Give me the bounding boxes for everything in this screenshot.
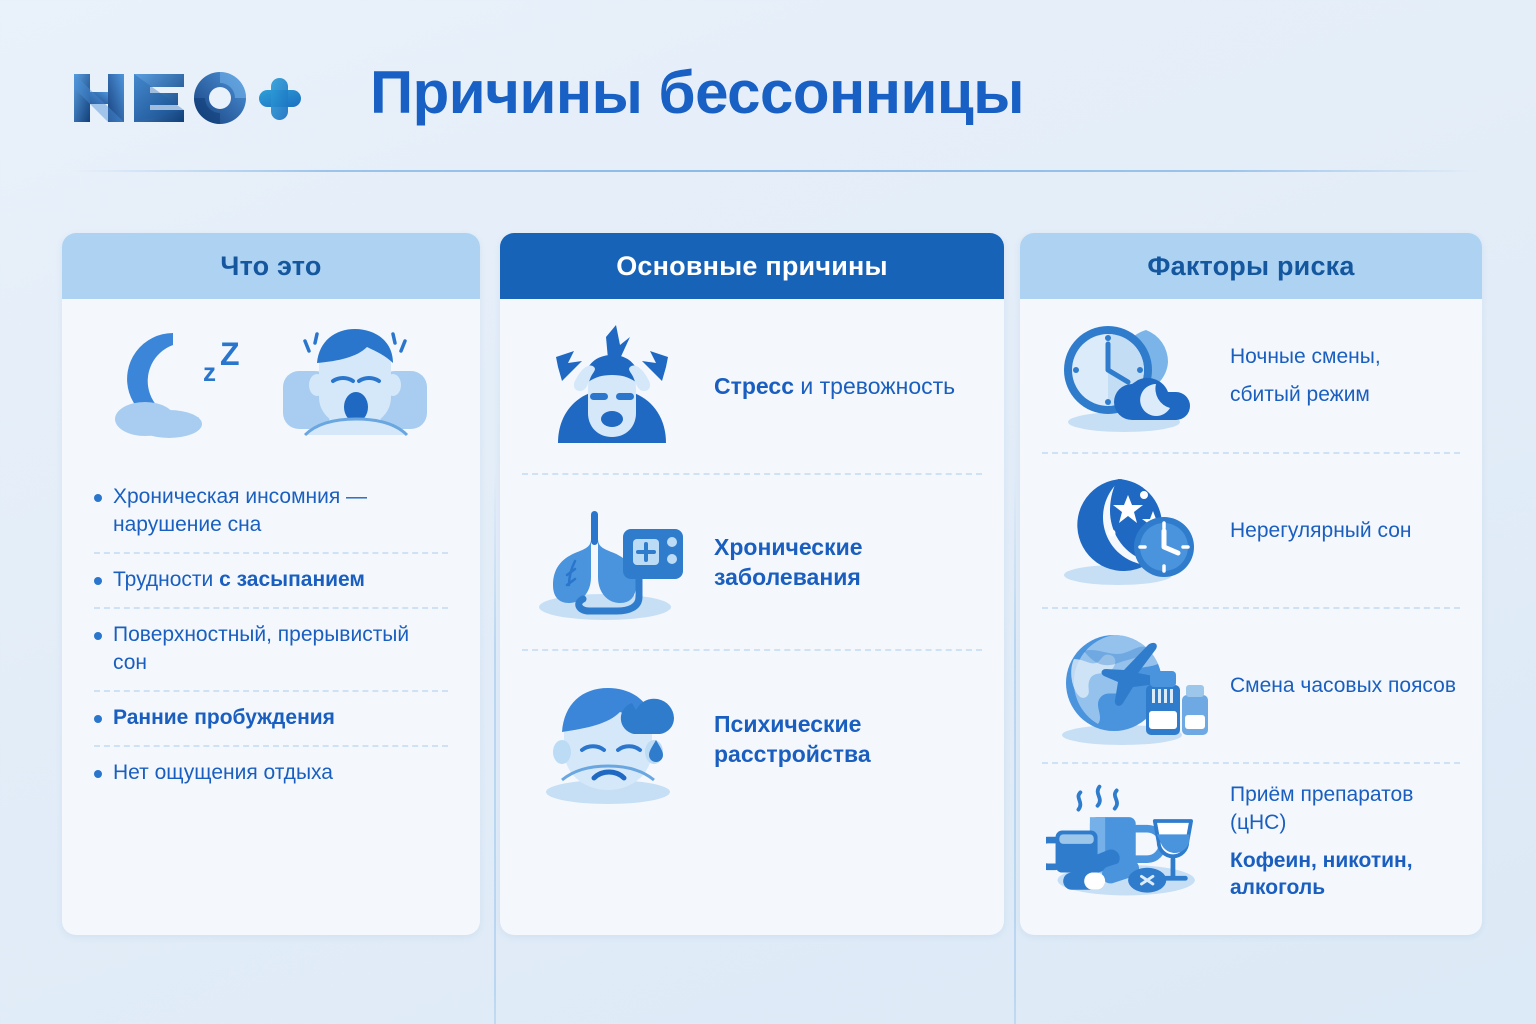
list-item-label: Приём препаратов (цНС)Кофеин, никотин, а…: [1230, 781, 1456, 902]
clock-moon-icon: [1046, 317, 1214, 435]
list-item: Стресс и тревожность: [522, 299, 982, 475]
list-item-label: Нет ощущения отдыха: [113, 759, 333, 787]
column-separator-2: [1014, 473, 1016, 1024]
list-item-label: Хронические заболевания: [714, 532, 978, 593]
header-divider: [72, 170, 1480, 172]
list-item: Ранние пробуждения: [94, 692, 448, 747]
list-item: Хронические заболевания: [522, 475, 982, 651]
card-risk-factors: Факторы риска: [1020, 233, 1482, 935]
lungs-monitor-icon: [526, 497, 698, 627]
bullet-dot-icon: [94, 494, 102, 502]
svg-text:Z: Z: [220, 336, 240, 372]
bullet-dot-icon: [94, 632, 102, 640]
stressed-head-icon: [526, 321, 698, 451]
list-item: Смена часовых поясов: [1042, 609, 1460, 764]
list-item: Трудности с засыпанием: [94, 554, 448, 609]
card-main-causes: Основные причины: [500, 233, 1004, 935]
moon-stars-clock-icon: [1046, 472, 1214, 590]
list-item-label: Психические расстройства: [714, 709, 978, 770]
list-item-label: Стресс и тревожность: [714, 371, 955, 401]
symptom-list: Хроническая инсомния — нарушение сна Тру…: [84, 471, 458, 799]
bullet-dot-icon: [94, 770, 102, 778]
page-title: Причины бессонницы: [370, 58, 1130, 127]
list-item-label: Нерегулярный сон: [1230, 517, 1411, 545]
svg-text:z: z: [203, 357, 216, 387]
list-item-label: Смена часовых поясов: [1230, 672, 1456, 700]
list-item: Хроническая инсомния — нарушение сна: [94, 471, 448, 554]
list-item: Поверхностный, прерывистый сон: [94, 609, 448, 692]
hero-icon-group: z Z: [84, 299, 458, 471]
list-item: Приём препаратов (цНС)Кофеин, никотин, а…: [1042, 764, 1460, 919]
sleeping-moon-icon: z Z: [107, 323, 255, 448]
list-item-label: Ранние пробуждения: [113, 704, 335, 732]
card-what-body: z Z: [62, 299, 480, 935]
card-risks-heading: Факторы риска: [1020, 233, 1482, 299]
globe-plane-pills-icon: [1046, 627, 1214, 745]
card-what-heading: Что это: [62, 233, 480, 299]
card-causes-heading: Основные причины: [500, 233, 1004, 299]
bullet-dot-icon: [94, 577, 102, 585]
list-item: Ночные смены,сбитый режим: [1042, 299, 1460, 454]
list-item-label: Хроническая инсомния — нарушение сна: [113, 483, 448, 539]
yawning-person-icon: [275, 323, 435, 448]
list-item: Психические расстройства: [522, 651, 982, 827]
brand-logo: [72, 62, 302, 134]
card-causes-body: Стресс и тревожность: [500, 299, 1004, 935]
coffee-wine-pills-icon: [1046, 783, 1214, 901]
column-separator-1: [494, 473, 496, 1024]
bullet-dot-icon: [94, 715, 102, 723]
sad-rain-cloud-icon: [526, 674, 698, 804]
list-item-label: Ночные смены,сбитый режим: [1230, 343, 1381, 408]
page-header: Причины бессонницы: [0, 0, 1536, 172]
card-what-is-it: Что это z Z: [62, 233, 480, 935]
columns-board: Что это z Z: [0, 233, 1536, 935]
list-item: Нерегулярный сон: [1042, 454, 1460, 609]
card-risks-body: Ночные смены,сбитый режим: [1020, 299, 1482, 935]
list-item-label: Трудности с засыпанием: [113, 566, 365, 594]
list-item-label: Поверхностный, прерывистый сон: [113, 621, 448, 677]
list-item: Нет ощущения отдыха: [94, 747, 448, 800]
